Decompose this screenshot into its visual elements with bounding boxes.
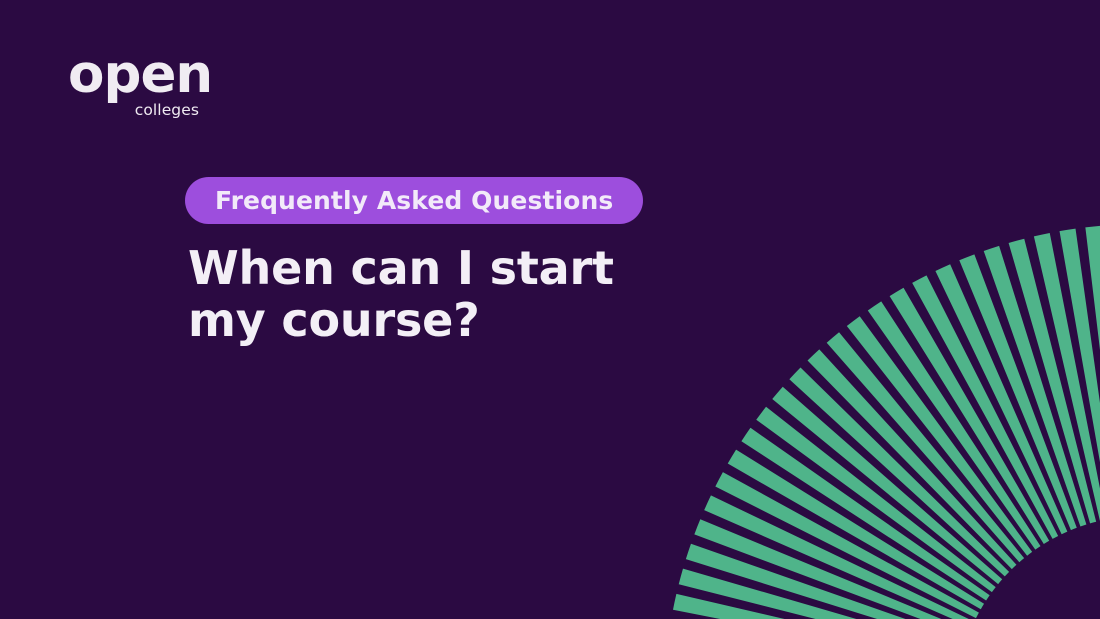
sunburst-ray (827, 332, 1024, 562)
sunburst-ray (694, 519, 970, 619)
sunburst-ray (756, 407, 995, 592)
open-colleges-logo: open colleges (68, 52, 200, 118)
sunburst-ray (1009, 239, 1097, 524)
sunburst-ray (728, 450, 984, 610)
sunburst-ray (715, 472, 979, 618)
sunburst-ray (1034, 233, 1100, 521)
sunburst-ray (912, 275, 1058, 539)
sunburst-ray (890, 288, 1050, 544)
page-title-line-2: my course? (188, 295, 614, 347)
logo-wordmark: open (68, 52, 200, 99)
sunburst-ray (868, 301, 1041, 549)
faq-slide: open colleges Frequently Asked Questions… (0, 0, 1100, 619)
sunburst-ray (741, 428, 989, 601)
sunburst-ray (847, 316, 1032, 555)
sunburst-ray (673, 594, 961, 619)
sunburst-ray (935, 264, 1067, 534)
sunburst-ray (984, 246, 1087, 527)
sunburst-ray (686, 544, 967, 619)
page-title: When can I start my course? (188, 243, 614, 346)
sunburst-ray (772, 387, 1002, 584)
sunburst-ray (1060, 229, 1100, 519)
sunburst-ray (704, 495, 974, 619)
sunburst-ray (959, 254, 1076, 530)
page-title-line-1: When can I start (188, 243, 614, 295)
sunburst-ray (808, 349, 1017, 569)
faq-badge: Frequently Asked Questions (185, 177, 643, 224)
sunburst-ray (1085, 226, 1100, 518)
sunburst-ray (679, 569, 964, 619)
sunburst-ray (789, 368, 1009, 577)
